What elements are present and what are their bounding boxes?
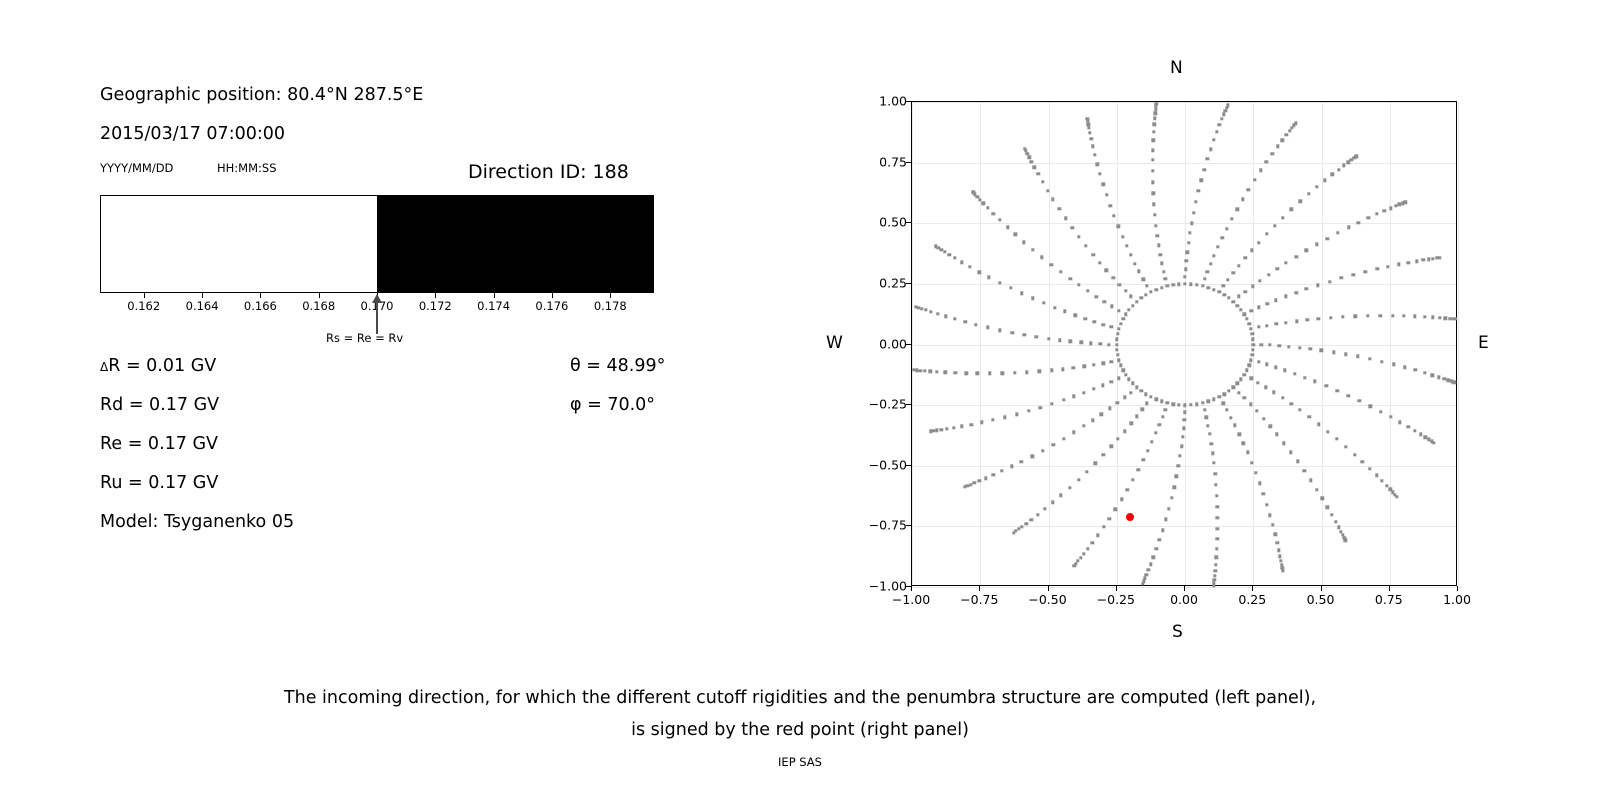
scatter-point xyxy=(1150,440,1153,443)
penumbra-tick xyxy=(435,293,436,298)
scatter-point xyxy=(969,483,972,486)
scatter-point xyxy=(963,485,966,488)
scatter-point xyxy=(1118,283,1121,286)
scatter-point xyxy=(1166,284,1169,287)
scatter-point xyxy=(1344,445,1347,448)
scatter-point xyxy=(1251,332,1254,335)
rs-arrow-head-icon xyxy=(372,294,382,303)
scatter-point xyxy=(1215,556,1218,559)
scatter-point xyxy=(1177,403,1180,406)
scatter-point xyxy=(1229,416,1232,419)
scatter-point xyxy=(1159,253,1162,256)
scatter-point xyxy=(1289,451,1292,454)
scatter-point xyxy=(1149,563,1152,566)
scatter-point xyxy=(948,253,951,256)
scatter-point xyxy=(1233,424,1236,427)
scatter-point xyxy=(1308,415,1311,418)
scatter-point xyxy=(1268,514,1271,517)
scatter-point xyxy=(1129,295,1132,298)
scatter-point xyxy=(1102,525,1105,528)
scatter-point xyxy=(924,308,927,311)
scatter-point xyxy=(1156,234,1159,237)
scatter-point xyxy=(1225,408,1228,411)
y-tick xyxy=(906,283,911,284)
y-tick xyxy=(906,222,911,223)
scatter-point xyxy=(944,371,947,374)
scatter-point xyxy=(1218,123,1221,126)
scatter-point xyxy=(1295,319,1298,322)
scatter-point xyxy=(1211,452,1214,455)
scatter-point xyxy=(1454,317,1457,320)
scatter-point xyxy=(1117,358,1120,361)
scatter-point xyxy=(1177,282,1180,285)
scatter-point xyxy=(1227,296,1230,299)
scatter-point xyxy=(1183,403,1186,406)
scatter-point xyxy=(1260,343,1263,346)
scatter-point xyxy=(1209,262,1212,265)
scatter-point xyxy=(1072,366,1075,369)
scatter-point xyxy=(1125,244,1128,247)
scatter-point xyxy=(1254,471,1257,474)
scatter-point xyxy=(914,305,917,308)
scatter-point xyxy=(1216,537,1219,540)
scatter-point xyxy=(1249,327,1252,330)
scatter-point xyxy=(1013,371,1016,374)
scatter-point xyxy=(1309,347,1312,350)
scatter-point xyxy=(1098,261,1101,264)
y-tick-label: 0.00 xyxy=(879,336,907,351)
scatter-point xyxy=(1277,344,1280,347)
scatter-point xyxy=(1431,316,1434,319)
scatter-point xyxy=(1227,389,1230,392)
scatter-point xyxy=(1262,492,1265,495)
scatter-point xyxy=(1437,376,1440,379)
scatter-point xyxy=(1282,441,1285,444)
scatter-point xyxy=(1020,460,1023,463)
scatter-point xyxy=(1109,445,1112,448)
scatter-point xyxy=(1303,469,1306,472)
scatter-point xyxy=(1379,410,1382,413)
scatter-point xyxy=(1320,349,1323,352)
scatter-point xyxy=(1307,192,1310,195)
scatter-point xyxy=(1413,315,1416,318)
scatter-point xyxy=(1208,432,1211,435)
scatter-point xyxy=(1087,126,1090,129)
scatter-point xyxy=(1127,378,1130,381)
y-tick xyxy=(906,162,911,163)
scatter-point xyxy=(1115,343,1118,346)
scatter-point xyxy=(1216,527,1219,530)
scatter-point xyxy=(1223,109,1226,112)
scatter-point xyxy=(1276,145,1279,148)
scatter-point xyxy=(1331,173,1334,176)
scatter-point xyxy=(1251,284,1254,287)
scatter-point xyxy=(1283,369,1286,372)
scatter-point xyxy=(1108,204,1111,207)
scatter-point xyxy=(1181,435,1184,438)
scatter-point xyxy=(1020,525,1023,528)
scatter-point xyxy=(1332,350,1335,353)
scatter-point xyxy=(1086,289,1089,292)
scatter-point xyxy=(1064,216,1067,219)
scatter-point xyxy=(1222,392,1225,395)
scatter-point xyxy=(1043,507,1046,510)
scatter-point xyxy=(1149,395,1152,398)
scatter-point xyxy=(1160,400,1163,403)
scatter-point xyxy=(1127,308,1130,311)
scatter-point xyxy=(1205,416,1208,419)
scatter-point xyxy=(1084,244,1087,247)
scatter-point xyxy=(960,425,963,428)
scatter-point xyxy=(1112,214,1115,217)
scatter-point xyxy=(1026,152,1029,155)
scatter-point xyxy=(1427,257,1430,260)
scatter-point xyxy=(1266,302,1269,305)
scatter-point xyxy=(1088,131,1091,134)
scatter-point xyxy=(1230,217,1233,220)
scatter-point xyxy=(1182,426,1185,429)
scatter-point xyxy=(1197,189,1200,192)
scatter-point xyxy=(1164,518,1167,521)
scatter-point xyxy=(1194,200,1197,203)
scatter-point xyxy=(1077,283,1080,286)
scatter-point xyxy=(1152,202,1155,205)
scatter-point xyxy=(1151,556,1154,559)
scatter-point xyxy=(1124,312,1127,315)
scatter-point xyxy=(1274,366,1277,369)
scatter-point xyxy=(1376,267,1379,270)
scatter-point xyxy=(1294,122,1297,125)
scatter-point xyxy=(944,315,947,318)
scatter-point xyxy=(1216,516,1219,519)
param-delta-r: ΔR = 0.01 GV xyxy=(100,356,216,376)
scatter-point xyxy=(1222,284,1225,287)
scatter-point xyxy=(1243,396,1246,399)
scatter-point xyxy=(1190,222,1193,225)
scatter-point xyxy=(1212,461,1215,464)
scatter-point xyxy=(953,317,956,320)
scatter-point xyxy=(1235,207,1238,210)
scatter-point xyxy=(1046,189,1049,192)
scatter-point xyxy=(1000,371,1003,374)
scatter-point xyxy=(1212,398,1215,401)
scatter-point xyxy=(1407,261,1410,264)
penumbra-tick-label: 0.178 xyxy=(594,299,627,313)
scatter-point xyxy=(1042,301,1045,304)
scatter-point xyxy=(1336,389,1339,392)
scatter-point xyxy=(1102,323,1105,326)
scatter-point xyxy=(1375,474,1378,477)
scatter-point xyxy=(1209,148,1212,151)
scatter-point xyxy=(1183,418,1186,421)
scatter-point xyxy=(1183,411,1186,414)
scatter-point xyxy=(1251,338,1254,341)
penumbra-forbidden-region xyxy=(377,196,653,292)
scatter-point xyxy=(1139,389,1142,392)
x-tick xyxy=(1321,586,1322,591)
x-tick xyxy=(1184,586,1185,591)
scatter-point xyxy=(1167,507,1170,510)
scatter-point xyxy=(1271,523,1274,526)
scatter-point xyxy=(1139,296,1142,299)
scatter-point xyxy=(1058,338,1061,341)
datetime-text: 2015/03/17 07:00:00 xyxy=(100,124,285,144)
scatter-point xyxy=(1284,295,1287,298)
scatter-point xyxy=(1031,248,1034,251)
scatter-point xyxy=(1154,224,1157,227)
scatter-point xyxy=(1170,496,1173,499)
param-model: Model: Tsyganenko 05 xyxy=(100,512,294,532)
scatter-point xyxy=(1222,402,1225,405)
scatter-point xyxy=(1212,288,1215,291)
scatter-point xyxy=(1288,129,1291,132)
scatter-point xyxy=(1323,178,1326,181)
scatter-point xyxy=(1298,408,1301,411)
scatter-point xyxy=(1116,437,1119,440)
y-tick-label: 0.75 xyxy=(879,154,907,169)
scatter-point xyxy=(1257,325,1260,328)
scatter-point xyxy=(1284,261,1287,264)
compass-label-south: S xyxy=(1172,622,1183,642)
scatter-point xyxy=(1114,507,1117,510)
scatter-point xyxy=(1000,469,1003,472)
scatter-point xyxy=(1303,376,1306,379)
scatter-point xyxy=(1438,316,1441,319)
scatter-point xyxy=(1271,152,1274,155)
scatter-point xyxy=(1293,372,1296,375)
scatter-point xyxy=(1252,343,1255,346)
scatter-point xyxy=(1361,460,1364,463)
scatter-point xyxy=(1172,486,1175,489)
penumbra-tick-label: 0.176 xyxy=(535,299,568,313)
x-tick-label: −0.25 xyxy=(1097,592,1135,607)
scatter-point xyxy=(1202,168,1205,171)
scatter-point xyxy=(1265,503,1268,506)
scatter-point xyxy=(978,479,981,482)
scatter-point xyxy=(1185,259,1188,262)
scatter-point xyxy=(1153,123,1156,126)
scatter-point xyxy=(1010,465,1013,468)
scatter-point xyxy=(1062,437,1065,440)
scatter-point xyxy=(1155,547,1158,550)
scatter-point xyxy=(953,371,956,374)
scatter-point xyxy=(1123,429,1126,432)
scatter-point xyxy=(1012,531,1015,534)
delta-symbol: Δ xyxy=(100,360,108,374)
scatter-point xyxy=(973,481,976,484)
scatter-point xyxy=(1353,453,1356,456)
scatter-point xyxy=(1059,270,1062,273)
scatter-point xyxy=(1109,360,1112,363)
scatter-point xyxy=(1063,310,1066,313)
x-axis-ticklabels: −1.00−0.75−0.50−0.250.000.250.500.751.00 xyxy=(911,592,1457,610)
scatter-point xyxy=(1276,267,1279,270)
scatter-point xyxy=(1120,498,1123,501)
scatter-point xyxy=(988,372,991,375)
scatter-point xyxy=(1249,403,1252,406)
scatter-point xyxy=(1096,534,1099,537)
x-tick-label: 1.00 xyxy=(1443,592,1471,607)
scatter-point xyxy=(1154,431,1157,434)
scatter-point xyxy=(1344,539,1347,542)
scatter-point xyxy=(1404,200,1407,203)
y-tick-label: 0.25 xyxy=(879,275,907,290)
scatter-point xyxy=(1212,138,1215,141)
scatter-point xyxy=(1183,275,1186,278)
penumbra-tick-label: 0.166 xyxy=(244,299,277,313)
scatter-point xyxy=(1368,467,1371,470)
scatter-point xyxy=(1206,424,1209,427)
scatter-point xyxy=(1112,276,1115,279)
scatter-point xyxy=(991,473,994,476)
x-tick xyxy=(1252,586,1253,591)
scatter-point xyxy=(1062,398,1065,401)
scatter-point xyxy=(1334,520,1337,523)
scatter-point xyxy=(1102,300,1105,303)
geographic-position-text: Geographic position: 80.4°N 287.5°E xyxy=(100,85,423,105)
y-tick-label: −0.25 xyxy=(869,397,907,412)
scatter-point xyxy=(1137,270,1140,273)
scatter-point xyxy=(1108,517,1111,520)
scatter-point xyxy=(953,256,956,259)
scatter-point xyxy=(1375,212,1378,215)
scatter-point xyxy=(1222,293,1225,296)
scatter-point xyxy=(935,370,938,373)
scatter-point xyxy=(929,310,932,313)
scatter-point xyxy=(969,423,972,426)
scatter-point xyxy=(929,430,932,433)
scatter-point xyxy=(1245,317,1248,320)
scatter-point xyxy=(1369,405,1372,408)
scatter-point xyxy=(1089,342,1092,345)
scatter-point xyxy=(1217,290,1220,293)
scatter-point xyxy=(1402,314,1405,317)
scatter-point xyxy=(1357,221,1360,224)
y-tick-label: −0.75 xyxy=(869,518,907,533)
scatter-point xyxy=(1058,207,1061,210)
scatter-point xyxy=(1162,270,1165,273)
scatter-point xyxy=(1135,300,1138,303)
scatter-point xyxy=(1305,287,1308,290)
scatter-point xyxy=(1281,396,1284,399)
scatter-point xyxy=(1082,391,1085,394)
scatter-point xyxy=(1171,283,1174,286)
scatter-point xyxy=(1355,155,1358,158)
scatter-point xyxy=(964,320,967,323)
scatter-point xyxy=(1121,235,1124,238)
scatter-point xyxy=(1177,464,1180,467)
scatter-point xyxy=(1220,117,1223,120)
scatter-point xyxy=(1141,277,1144,280)
penumbra-bar xyxy=(100,195,654,293)
scatter-point xyxy=(1178,454,1181,457)
scatter-point xyxy=(1192,211,1195,214)
scatter-point xyxy=(1317,317,1320,320)
x-tick-label: −0.75 xyxy=(960,592,998,607)
scatter-point xyxy=(1221,236,1224,239)
penumbra-tick-label: 0.162 xyxy=(127,299,160,313)
scatter-point xyxy=(1050,263,1053,266)
scatter-point xyxy=(1027,409,1030,412)
scatter-point xyxy=(1073,313,1076,316)
scatter-point xyxy=(1315,185,1318,188)
scatter-point xyxy=(1092,387,1095,390)
scatter-point xyxy=(1356,355,1359,358)
scatter-point xyxy=(1423,371,1426,374)
scatter-point xyxy=(1358,399,1361,402)
scatter-point xyxy=(1164,277,1167,280)
scatter-point xyxy=(1020,292,1023,295)
penumbra-tick xyxy=(610,293,611,298)
scatter-point xyxy=(1237,264,1240,267)
scatter-point xyxy=(1444,316,1447,319)
scatter-point xyxy=(1110,380,1113,383)
scatter-point xyxy=(1391,314,1394,317)
scatter-point xyxy=(1085,470,1088,473)
scatter-point xyxy=(1093,320,1096,323)
scatter-point xyxy=(1253,178,1256,181)
scatter-point xyxy=(1119,364,1122,367)
scatter-point xyxy=(1010,331,1013,334)
scatter-point xyxy=(1413,429,1416,432)
scatter-point xyxy=(1188,231,1191,234)
scatter-point xyxy=(1053,306,1056,309)
scatter-point xyxy=(1145,284,1148,287)
scatter-point xyxy=(1151,158,1154,161)
param-delta-r-value: R = 0.01 GV xyxy=(108,356,216,376)
scatter-point xyxy=(1146,449,1149,452)
scatter-point xyxy=(1249,377,1252,380)
scatter-point xyxy=(1281,216,1284,219)
scatter-point xyxy=(1161,415,1164,418)
scatter-point xyxy=(1321,497,1324,500)
scatter-point xyxy=(1073,564,1076,567)
scatter-point xyxy=(1195,402,1198,405)
penumbra-tick xyxy=(202,293,203,298)
scatter-point xyxy=(1160,286,1163,289)
scatter-point xyxy=(1203,277,1206,280)
scatter-point xyxy=(1213,472,1216,475)
scatter-point xyxy=(1287,345,1290,348)
compass-label-north: N xyxy=(1170,58,1183,78)
scatter-point xyxy=(1160,262,1163,265)
penumbra-tick xyxy=(552,293,553,298)
scatter-point xyxy=(1326,506,1329,509)
scatter-point xyxy=(928,370,931,373)
scatter-point xyxy=(965,371,968,374)
scatter-point xyxy=(1180,445,1183,448)
scatter-point xyxy=(984,477,987,480)
scatter-point xyxy=(1086,547,1089,550)
param-phi: φ = 70.0° xyxy=(570,395,655,415)
scatter-point xyxy=(1247,364,1250,367)
scatter-point xyxy=(1236,382,1239,385)
scatter-point xyxy=(1222,113,1225,116)
scatter-point xyxy=(1199,179,1202,182)
scatter-point xyxy=(1151,169,1154,172)
scatter-point xyxy=(1214,483,1217,486)
scatter-point xyxy=(1242,312,1245,315)
y-tick-label: −0.50 xyxy=(869,457,907,472)
scatter-point xyxy=(1089,137,1092,140)
scatter-point xyxy=(1340,276,1343,279)
scatter-point xyxy=(1077,235,1080,238)
scatter-point xyxy=(1061,367,1064,370)
scatter-point xyxy=(1259,169,1262,172)
scatter-point xyxy=(1047,337,1050,340)
scatter-point xyxy=(1275,433,1278,436)
scatter-point xyxy=(1040,256,1043,259)
